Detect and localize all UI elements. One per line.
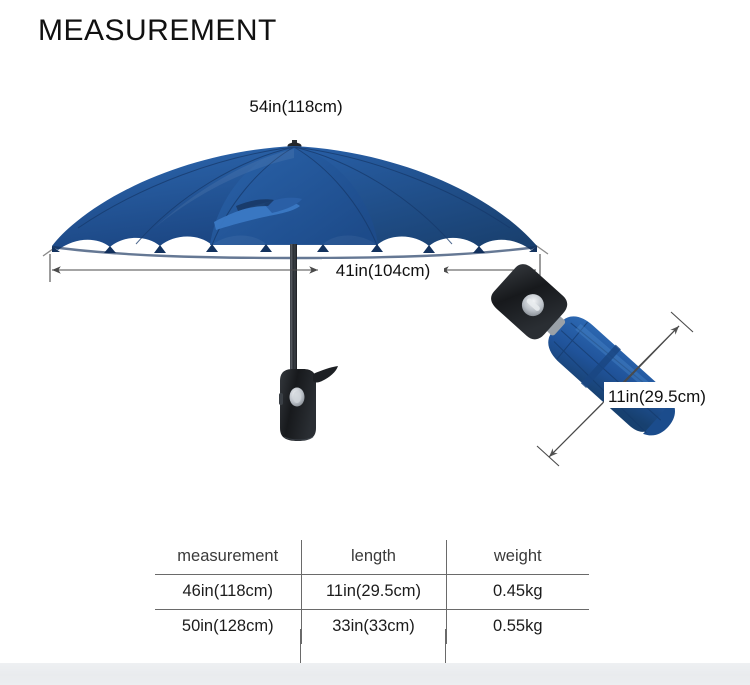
length-dimension-label: 11in(29.5cm) xyxy=(608,387,706,406)
table-header-measurement: measurement xyxy=(155,540,301,575)
table-divider-extensions xyxy=(155,629,589,665)
umbrella-shaft-highlight xyxy=(291,244,293,384)
table-divider-2 xyxy=(445,629,446,663)
table-header-row: measurement length weight xyxy=(155,540,589,575)
table-cell-measurement: 46in(118cm) xyxy=(155,575,301,610)
table-header-weight: weight xyxy=(446,540,589,575)
table-cell-length: 11in(29.5cm) xyxy=(301,575,446,610)
table-header-length: length xyxy=(301,540,446,575)
table-row: 46in(118cm) 11in(29.5cm) 0.45kg xyxy=(155,575,589,610)
footer-band xyxy=(0,663,750,685)
umbrella-handle xyxy=(279,366,338,441)
table-divider-1 xyxy=(300,629,301,663)
arc-dimension-label: 54in(118cm) xyxy=(249,97,342,116)
measurement-infographic: MEASUREMENT xyxy=(0,0,750,685)
table-cell-weight: 0.45kg xyxy=(446,575,589,610)
open-umbrella-graphic xyxy=(52,140,537,441)
umbrella-diagram-svg: 54in(118cm) xyxy=(0,0,750,520)
diagram-area: 54in(118cm) xyxy=(0,0,750,520)
width-dimension-label: 41in(104cm) xyxy=(336,261,431,280)
